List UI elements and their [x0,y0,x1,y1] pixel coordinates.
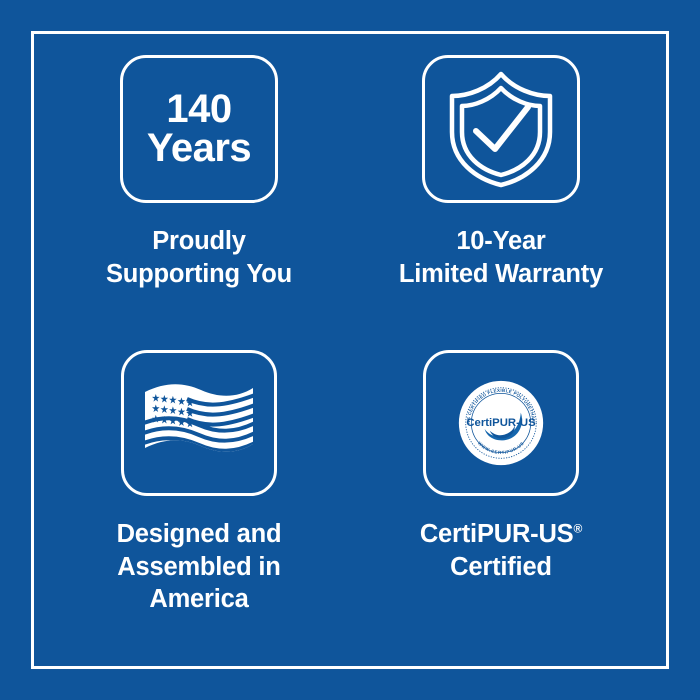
badge-warranty-caption: 10-Year Limited Warranty [399,225,603,290]
years-badge-text: 140 Years [147,90,251,168]
shield-check-icon [442,69,560,189]
seal-center-text: CertiPUR-US [466,417,536,429]
certipur-label: CertiPUR-US [420,520,574,548]
usa-flag-icon-frame [121,350,277,496]
registered-trademark-icon: ® [574,522,583,536]
calendar-years-badge-icon: 140 Years [120,55,278,203]
badge-made-in-america: Designed and Assembled in America [48,350,350,645]
years-word: Years [147,129,251,168]
badge-years-caption: Proudly Supporting You [106,225,292,290]
badge-years: 140 Years Proudly Supporting You [48,55,350,350]
certipur-us-seal-icon: CertiPUR-US CONTAINS CERTIFIED FLEXIBLE … [458,380,544,466]
badge-america-caption: Designed and Assembled in America [117,518,282,616]
promo-poster: 140 Years Proudly Supporting You 10-Year… [0,0,700,700]
certified-label: Certified [450,553,552,581]
badge-certipur: CertiPUR-US CONTAINS CERTIFIED FLEXIBLE … [350,350,652,645]
badge-warranty: 10-Year Limited Warranty [350,55,652,350]
years-number: 140 [147,90,251,129]
badge-certipur-caption: CertiPUR-US®Certified [420,518,582,583]
shield-check-icon-frame [422,55,580,203]
usa-flag-icon [143,380,255,466]
badge-grid: 140 Years Proudly Supporting You 10-Year… [48,55,652,645]
certipur-us-seal-icon-frame: CertiPUR-US CONTAINS CERTIFIED FLEXIBLE … [423,350,579,496]
